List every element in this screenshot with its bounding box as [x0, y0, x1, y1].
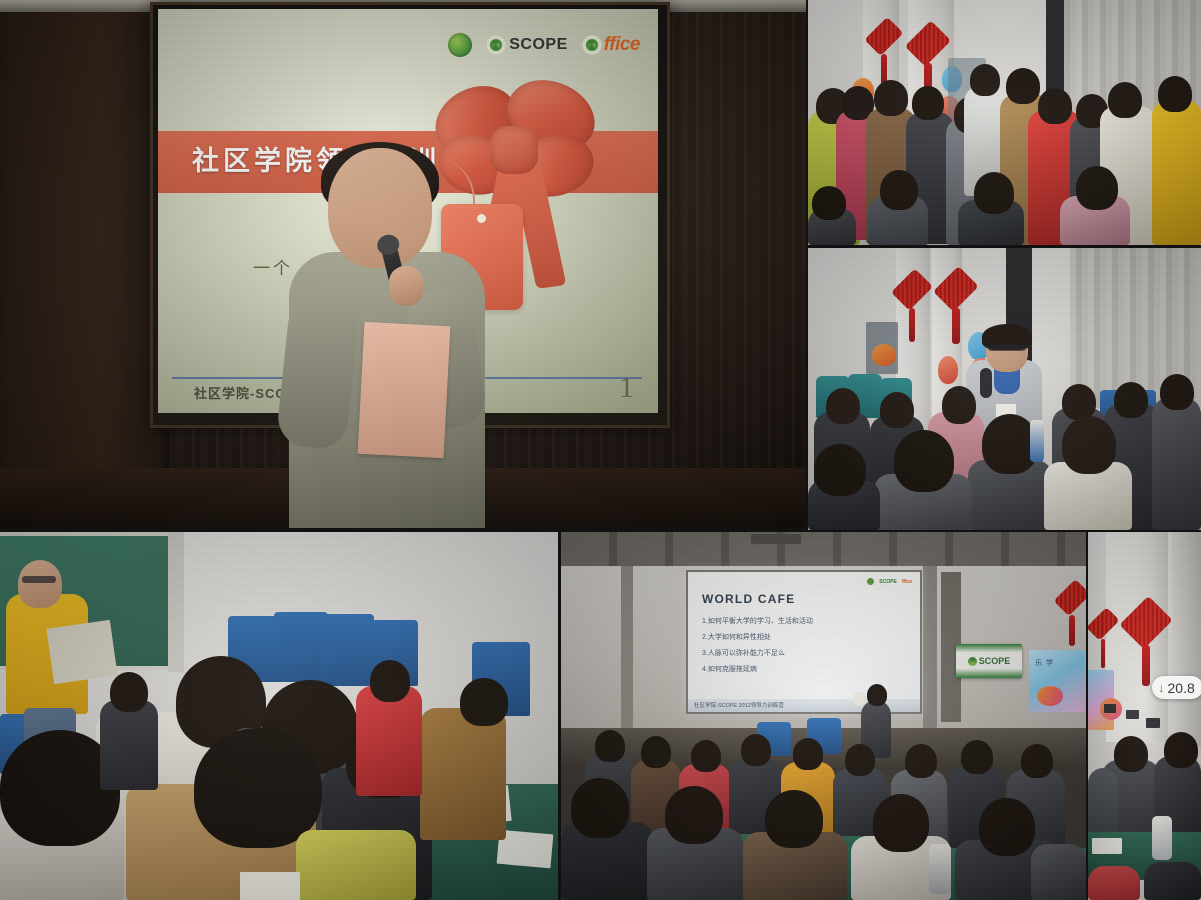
person-head: [814, 444, 866, 496]
presenter-speaking-photo: SCOPE ffice: [0, 0, 806, 528]
person-head: [1108, 82, 1142, 118]
person-head: [1158, 76, 1192, 112]
microphone-icon: [853, 692, 866, 706]
person-head: [1038, 88, 1072, 124]
person-head: [942, 386, 976, 424]
world-cafe-item: 4.如何克服拖延病: [702, 664, 908, 674]
person-head: [1160, 374, 1194, 410]
person-head: [18, 560, 62, 608]
world-cafe-footer-text: 社区学院-SCOPE 2012领导力训练营: [694, 701, 784, 709]
wood-wall-left-panel: [0, 0, 170, 528]
scope-logo: SCOPE: [486, 35, 568, 55]
person-head: [370, 660, 410, 702]
newspaper-sheet: [46, 620, 117, 684]
balloon-decoration: [872, 344, 896, 366]
person-head: [974, 172, 1014, 214]
person-head: [741, 734, 771, 766]
person-head: [765, 790, 823, 848]
swirl-icon: [968, 657, 977, 666]
person-body: [1152, 100, 1201, 245]
scope-banner-label: SCOPE: [979, 656, 1011, 666]
person-head: [812, 186, 846, 220]
person-head: [194, 728, 322, 848]
person-head: [571, 778, 629, 838]
hall-ceiling: [561, 532, 1086, 566]
person-head: [880, 170, 918, 210]
person-head: [641, 736, 671, 768]
person-body: [1144, 862, 1201, 900]
swirl-icon: [486, 35, 506, 55]
person-body: [1031, 844, 1086, 900]
scope-wall-banner: SCOPE: [956, 644, 1022, 678]
person-head: [905, 744, 937, 778]
leaf-circle-icon: [448, 33, 472, 57]
poster-label: 乐 学: [1035, 658, 1054, 668]
person-head: [793, 738, 823, 770]
person-head: [880, 392, 914, 428]
person-head: [912, 86, 944, 120]
person-head: [460, 678, 508, 726]
scope-logo-label: SCOPE: [509, 36, 568, 54]
office-logo-label: ffice: [902, 579, 912, 585]
paper-sheet: [1092, 838, 1122, 854]
leaf-circle-icon: [867, 578, 874, 585]
world-cafe-title: WORLD CAFE: [702, 592, 795, 606]
presenter-paper-sheet: [358, 322, 451, 458]
lecture-hall-photo: SCOPE ffice WORLD CAFE 1.如何平衡大学的学习、生活和活动…: [561, 532, 1086, 900]
glasses-icon: [988, 344, 1026, 351]
wall-photo-card: [1146, 718, 1160, 728]
scope-logo-label: SCOPE: [879, 579, 897, 585]
wall-trim: [923, 566, 937, 734]
workshop-crowd-photo: [808, 0, 1201, 245]
balloon-decoration: [938, 356, 958, 384]
world-cafe-item: 1.如何平衡大学的学习、生活和活动: [702, 616, 908, 626]
person-body: [356, 686, 422, 796]
office-logo: ffice: [582, 34, 640, 56]
wall-section: [1172, 532, 1201, 746]
chinese-knot-decoration: [894, 266, 930, 342]
ceiling-projector: [751, 534, 801, 544]
person-head: [1062, 416, 1116, 474]
chinese-knot-decoration: [1057, 576, 1086, 646]
glasses-icon: [22, 576, 56, 583]
chinese-knot-decoration: [1090, 604, 1116, 668]
wall-trim: [621, 566, 633, 734]
person-head: [1114, 382, 1148, 418]
photo-collage: SCOPE ffice: [0, 0, 1201, 900]
audience-question-photo: [808, 248, 1201, 530]
chinese-knot-decoration: [936, 264, 976, 344]
world-cafe-item: 2.大学如何和异性相处: [702, 632, 908, 642]
person-head: [845, 744, 875, 776]
thermos-bottle: [929, 844, 951, 894]
blue-chair: [322, 614, 374, 686]
decorations-photo: [1088, 532, 1201, 900]
person-bag: [296, 830, 416, 900]
person-head: [873, 794, 929, 852]
person-head: [1114, 736, 1148, 772]
paper-sheet: [240, 872, 300, 900]
wall-photo-card: [1126, 710, 1139, 719]
presenter-figure: [283, 148, 493, 528]
person-body: [420, 708, 506, 840]
person-head: [1076, 166, 1118, 210]
swirl-icon: [582, 35, 602, 55]
presenter-head: [867, 684, 887, 706]
wall-photo-card: [1104, 704, 1116, 713]
thermos-bottle: [1030, 420, 1044, 462]
person-head: [595, 730, 625, 762]
person-body: [1088, 866, 1140, 900]
download-speed-badge[interactable]: ↓ 20.8: [1152, 676, 1201, 699]
download-arrow-icon: ↓: [1158, 681, 1165, 694]
chinese-knot-decoration: [1122, 594, 1170, 686]
download-speed-value: 20.8: [1168, 680, 1195, 696]
person-head: [874, 80, 908, 116]
world-cafe-item: 3.人脉可以弥补能力不足么: [702, 648, 908, 658]
person-head: [894, 430, 954, 492]
poster-graphic: [1037, 686, 1063, 706]
person-head: [826, 388, 860, 424]
slide-page-number: 1: [619, 371, 634, 405]
chinese-knot-decoration: [868, 14, 900, 86]
group-activity-photo: [0, 532, 558, 900]
person-body: [100, 700, 158, 790]
person-head: [979, 798, 1035, 856]
presenter-hand: [389, 266, 423, 306]
person-head: [665, 786, 723, 844]
person-body: [1152, 398, 1201, 530]
person-head: [691, 740, 721, 772]
slide-logo-row: SCOPE ffice: [867, 578, 912, 585]
bow-knot: [490, 126, 538, 174]
person-head: [970, 64, 1000, 96]
person-head: [110, 672, 148, 712]
office-logo-label: ffice: [604, 34, 640, 56]
person-head: [961, 740, 993, 774]
person-head: [1062, 384, 1096, 420]
microphone-icon: [980, 368, 992, 398]
blue-chair: [274, 612, 328, 682]
person-head: [1006, 68, 1040, 104]
slide-logo-row: SCOPE ffice: [448, 33, 640, 57]
person-head: [1021, 744, 1053, 778]
board-frame-edge: [168, 532, 184, 672]
thermos-bottle: [1152, 816, 1172, 860]
wall-poster: 乐 学: [1029, 650, 1085, 712]
world-cafe-question-list: 1.如何平衡大学的学习、生活和活动 2.大学如何和异性相处 3.人脉可以弥补能力…: [702, 616, 908, 680]
person-head: [1164, 732, 1198, 768]
